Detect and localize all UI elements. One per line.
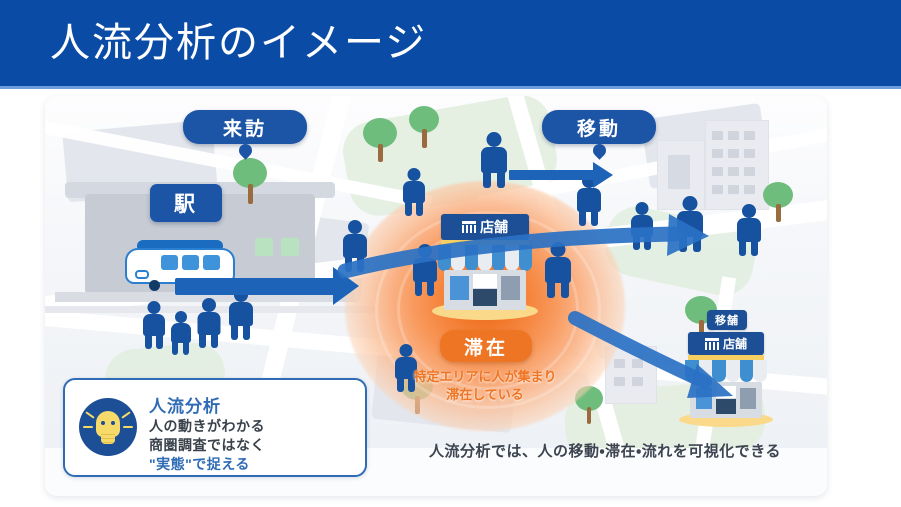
tree-icon [363,118,397,162]
diagram-card: 店舗 移舗 店舗 [45,96,827,496]
bus-window [182,255,199,270]
store-window [696,388,712,409]
store-window [740,388,756,409]
legend-box: 人流分析 人の動きがわかる 商圏調査ではなく "実態"で捉える [63,378,367,477]
lightbulb-icon [79,398,137,456]
header-underline [0,86,901,89]
office-building [705,120,769,210]
pedestrian-icon [411,244,439,296]
move-arrow-head [593,162,613,188]
tree-icon [763,182,793,222]
legend-line-2: 商圏調査ではなく [149,435,265,455]
store-awning [685,360,767,382]
pedestrian-icon [141,301,167,349]
pedestrian-icon [735,204,763,256]
stay-description-line1: 特定エリアに人が集まり [385,368,585,386]
bus-wheel [149,280,160,291]
pedestrian-icon [675,196,705,252]
page-title: 人流分析のイメージ [50,17,427,69]
shop-glyph-icon [705,338,719,350]
store-right-badge: 移舗 [707,310,747,330]
bus-door [135,270,149,279]
tree-icon [233,158,267,204]
legend-line-1: 人の動きがわかる [149,416,265,436]
diagram-caption: 人流分析では、人の移動・滞在・流れを可視化できる [395,440,815,461]
label-station: 駅 [150,184,222,222]
pedestrian-icon [341,220,369,272]
shop-glyph-icon [462,221,476,233]
pedestrian-icon [169,311,193,355]
stay-description-line2: 滞在している [385,386,585,404]
legend-title: 人流分析 [149,392,221,417]
label-move: 移動 [542,110,656,144]
store-window [450,276,469,300]
store-window [473,274,497,288]
store-window [501,276,520,300]
station-window [281,238,299,256]
flow-arrow-station [175,278,335,295]
pedestrian-icon [401,168,427,216]
pedestrian-icon [195,298,223,348]
visit-pin-icon [236,141,254,159]
store-center: 店舗 [438,214,532,324]
pedestrian-icon [629,202,655,250]
store-right: 移舗 店舗 [685,332,767,428]
station-window [255,238,273,256]
store-sign-right: 店舗 [688,332,764,355]
pedestrian-icon [227,288,255,340]
flow-arrow-head [333,267,359,305]
label-stay: 滞在 [440,330,532,362]
move-pin-icon [590,141,608,159]
label-visit: 来訪 [183,110,307,144]
bus-window [203,255,220,270]
store-door [473,289,497,306]
pedestrian-icon [479,132,509,188]
store-sign-label: 店舗 [723,335,747,352]
bus-window [161,255,178,270]
store-sign-center: 店舗 [441,214,529,240]
store-sign-label: 店舗 [480,217,508,237]
pedestrian-icon [543,242,573,298]
store-door [716,399,736,414]
tree-icon [409,106,439,148]
store-awning [438,245,532,271]
move-arrow-line [509,170,595,180]
stay-description: 特定エリアに人が集まり 滞在している [385,368,585,404]
legend-line-3: "実態"で捉える [149,454,250,474]
store-window [716,386,736,398]
